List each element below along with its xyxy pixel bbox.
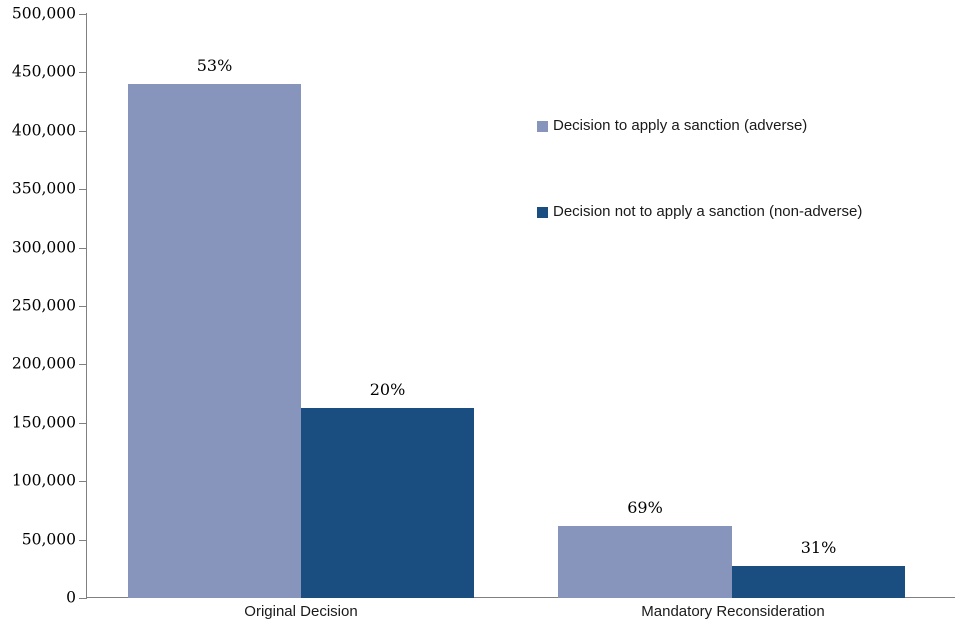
y-tick-label-100000: 100,000: [2, 473, 76, 489]
legend-item-adverse[interactable]: Decision to apply a sanction (adverse): [537, 118, 807, 135]
y-tick-label-450000: 450,000: [2, 64, 76, 80]
y-tick-mark: [79, 540, 86, 541]
y-tick-label-250000: 250,000: [2, 298, 76, 314]
y-tick-mark: [79, 423, 86, 424]
bar-mandatory-reconsideration-adverse[interactable]: [558, 526, 732, 598]
y-axis-line: [86, 13, 87, 599]
y-tick-label-500000: 500,000: [2, 6, 76, 22]
bar-mandatory-reconsideration-non-adverse[interactable]: [732, 566, 905, 598]
y-tick-mark: [79, 248, 86, 249]
y-tick-label-200000: 200,000: [2, 356, 76, 372]
y-tick-label-150000: 150,000: [2, 415, 76, 431]
y-tick-label-300000: 300,000: [2, 240, 76, 256]
legend-swatch-adverse-icon: [537, 121, 548, 132]
bar-label-original-decision-adverse: 53%: [135, 58, 294, 74]
bar-label-mandatory-reconsideration-adverse: 69%: [565, 500, 725, 516]
legend-label-non-adverse: Decision not to apply a sanction (non-ad…: [553, 204, 862, 221]
y-tick-label-400000: 400,000: [2, 123, 76, 139]
y-tick-mark: [79, 14, 86, 15]
bar-chart: 500,000 450,000 400,000 350,000 300,000 …: [0, 0, 960, 640]
bar-label-original-decision-non-adverse: 20%: [308, 382, 467, 398]
bar-original-decision-non-adverse[interactable]: [301, 408, 474, 598]
bar-label-mandatory-reconsideration-non-adverse: 31%: [739, 540, 898, 556]
y-tick-mark: [79, 189, 86, 190]
y-tick-label-350000: 350,000: [2, 181, 76, 197]
x-category-label-original-decision: Original Decision: [181, 604, 421, 621]
y-tick-label-0: 0: [2, 590, 76, 606]
x-category-label-mandatory-reconsideration: Mandatory Reconsideration: [613, 604, 853, 621]
y-tick-mark: [79, 481, 86, 482]
y-tick-mark: [79, 72, 86, 73]
legend-label-adverse: Decision to apply a sanction (adverse): [553, 118, 807, 135]
y-tick-label-50000: 50,000: [2, 532, 76, 548]
y-tick-mark: [79, 131, 86, 132]
y-tick-mark: [79, 364, 86, 365]
legend-item-non-adverse[interactable]: Decision not to apply a sanction (non-ad…: [537, 204, 862, 221]
bar-original-decision-adverse[interactable]: [128, 84, 301, 598]
legend-swatch-non-adverse-icon: [537, 207, 548, 218]
y-tick-mark: [79, 598, 86, 599]
y-tick-mark: [79, 306, 86, 307]
